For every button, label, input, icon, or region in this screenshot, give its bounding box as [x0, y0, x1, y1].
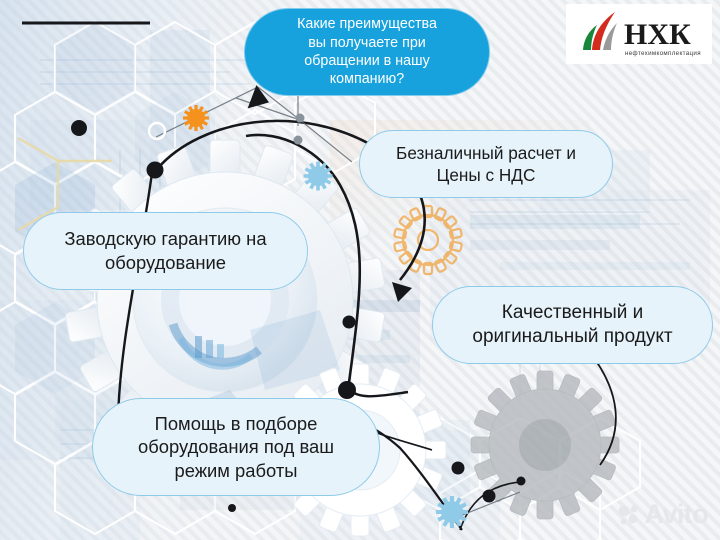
bubble-payment-line-1: Безналичный расчет и: [386, 142, 586, 164]
bubble-question: Какие преимущества вы получаете при обра…: [244, 8, 490, 96]
bubble-warranty: Заводскую гарантию на оборудование: [23, 212, 308, 290]
bubble-question-line-2: вы получаете при: [287, 34, 447, 52]
node-dot: [296, 114, 305, 123]
bubble-quality-line-1: Качественный и: [462, 301, 682, 325]
bubble-selection-line-3: режим работы: [128, 459, 344, 483]
logo-subtitle: нефтехимкомплектация: [625, 50, 701, 57]
logo-artwork: НХК нефтехимкомплектация: [566, 4, 712, 64]
bubble-question-line-4: компанию?: [287, 70, 447, 88]
node-dot: [294, 136, 303, 145]
bubble-warranty-line-1: Заводскую гарантию на: [54, 227, 276, 251]
node-dot: [517, 477, 526, 486]
company-logo: НХК нефтехимкомплектация: [566, 4, 712, 64]
avito-watermark: Avito: [618, 501, 709, 528]
avito-dots-icon: [618, 504, 640, 526]
node-dot: [228, 504, 236, 512]
node-dot: [338, 381, 356, 399]
bubble-question-line-1: Какие преимущества: [287, 15, 447, 33]
avito-watermark-label: Avito: [645, 501, 709, 528]
bubble-quality-line-2: оригинальный продукт: [462, 325, 682, 349]
infographic-canvas: Какие преимущества вы получаете при обра…: [0, 0, 720, 540]
bubble-warranty-line-2: оборудование: [54, 251, 276, 275]
bubble-selection: Помощь в подборе оборудования под ваш ре…: [92, 398, 380, 496]
node-dot: [343, 316, 356, 329]
bubble-selection-line-2: оборудования под ваш: [128, 435, 344, 459]
bubble-selection-line-1: Помощь в подборе: [128, 412, 344, 436]
node-dot: [452, 462, 465, 475]
bubble-quality: Качественный и оригинальный продукт: [432, 286, 713, 364]
node-dot: [483, 490, 496, 503]
node-dot: [71, 120, 87, 136]
bubble-payment-line-2: Цены с НДС: [386, 164, 586, 186]
bubble-question-line-3: обращении в нашу: [287, 52, 447, 70]
logo-title: НХК: [624, 18, 691, 51]
bubble-payment: Безналичный расчет и Цены с НДС: [359, 130, 613, 198]
node-dot: [147, 162, 164, 179]
